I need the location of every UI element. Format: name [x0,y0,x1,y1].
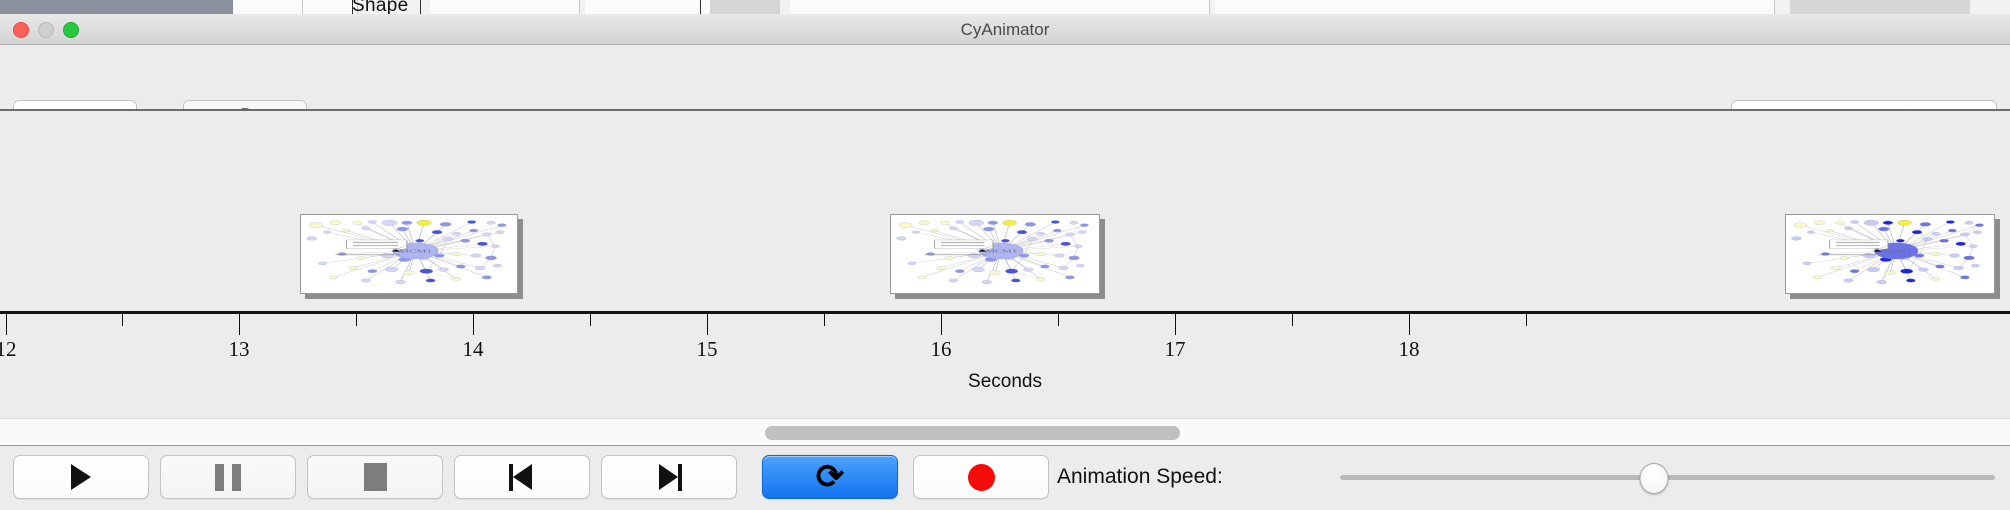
axis-tick [590,314,591,326]
network-node [385,267,398,272]
stop-button[interactable] [307,455,443,499]
network-node [1975,224,1983,227]
network-node [361,227,370,230]
network-node [1036,252,1045,255]
network-node [1070,221,1078,224]
axis-tick-label: 16 [931,337,952,362]
loop-button[interactable]: ⟳ [762,455,898,499]
network-node [493,264,502,267]
network-node [460,239,470,242]
background-window-cell [1215,0,1775,14]
network-node [1814,221,1825,225]
network-node [1883,221,1893,225]
network-node [1080,224,1088,227]
network-node [438,268,448,272]
network-node [1037,232,1045,235]
skip-forward-icon [656,464,682,491]
network-node [1896,239,1904,242]
axis-tick [1409,314,1410,335]
network-node [382,220,398,226]
network-node [1897,220,1911,225]
network-node [482,276,492,279]
network-node [1935,265,1944,268]
keyframe-image: MCM1 [300,214,518,294]
pause-button[interactable] [160,455,296,499]
network-node [1948,229,1956,232]
skip-forward-button[interactable] [601,455,737,499]
network-node [1900,269,1912,274]
network-node [452,232,461,235]
axis-tick [473,314,474,335]
axis-tick [6,314,7,335]
axis-tick [824,314,825,326]
keyframe-thumbnail[interactable]: MCM1 [890,214,1100,294]
network-hub-label: MCM1 [399,249,432,254]
axis-line [0,311,2010,314]
keyframe-image: MCM1 [1785,214,1995,294]
network-thumbnail: MCM1 [891,215,1099,293]
network-node [1844,227,1852,230]
network-node [1002,220,1016,225]
network-thumbnail: MCM1 [301,215,517,293]
title-bar: CyAnimator [0,14,2010,45]
timeline-axis: 12131415161718 Seconds [0,311,2010,420]
loop-icon: ⟳ [816,460,845,494]
network-node [1920,222,1931,226]
network-node [456,265,466,268]
network-node [477,242,487,246]
network-node [983,227,994,231]
network-node [1971,264,1979,267]
network-node [330,221,341,225]
network-node [968,253,980,258]
axis-tick [1058,314,1059,326]
network-node [1922,237,1932,241]
network-node [1932,277,1940,280]
record-button[interactable] [913,455,1049,499]
network-node [491,245,500,248]
network-node [318,262,327,265]
animation-speed-slider[interactable] [1340,455,1995,499]
network-node [1973,231,1981,234]
network-node [1912,230,1922,234]
network-node [1949,254,1959,258]
network-node [1807,231,1814,234]
network-node [1931,252,1940,255]
network-node [395,280,405,284]
timeline-panel: MCM1MCM1MCM1 12131415161718 Seconds [0,109,2010,418]
network-node [397,227,408,231]
axis-tick-label: 15 [697,337,718,362]
network-node [452,252,462,255]
background-window-cell [585,0,725,14]
network-node [955,220,963,223]
axis-tick [356,314,357,326]
network-node [1065,276,1074,279]
toolbar: + Clear All Frames [0,45,2010,109]
axis-tick [1292,314,1293,326]
network-node [1867,267,1879,272]
network-node [342,229,350,232]
window-title: CyAnimator [0,14,2010,45]
network-node [955,269,964,272]
axis-tick [122,314,123,326]
network-node [899,223,912,228]
network-node [361,279,371,282]
network-node [415,239,424,242]
keyframe-thumbnail[interactable]: MCM1 [1785,214,1995,294]
play-icon [71,464,91,490]
network-thumbnail: MCM1 [1786,215,1994,293]
network-node [1877,280,1887,284]
network-node [1960,233,1969,236]
network-node [1878,227,1889,231]
network-node [307,237,317,241]
axis-tick-label: 17 [1165,337,1186,362]
network-node [1954,266,1964,270]
skip-back-button[interactable] [454,455,590,499]
network-node [329,276,338,279]
animation-speed-label: Animation Speed: [1057,455,1223,499]
background-window: Shape [0,0,2010,14]
slider-thumb[interactable] [1640,463,1669,494]
network-node [357,256,366,259]
network-node [969,220,984,226]
network-node [348,266,358,269]
network-node [487,221,496,224]
network-node [1065,233,1074,236]
axis-tick [707,314,708,335]
network-node [1932,232,1940,235]
play-button[interactable] [13,455,149,499]
network-node [1960,276,1969,279]
axis-tick-label: 12 [0,337,17,362]
network-node [1017,230,1027,234]
network-node [352,221,362,224]
network-node [1074,245,1082,248]
axis-tick-label: 13 [229,337,250,362]
network-node [908,262,916,265]
network-node [498,224,507,227]
skip-back-icon [509,464,535,491]
network-node [1001,239,1009,242]
axis-tick-label: 14 [463,337,484,362]
network-node [440,222,451,226]
record-icon [968,464,995,491]
network-node [323,231,331,234]
network-node [1956,242,1966,246]
network-node [919,221,930,225]
axis-tick-label: 18 [1399,337,1420,362]
network-hub-label: MCM1 [985,249,1017,253]
background-window-dark-region [0,0,233,14]
network-node [420,269,433,274]
network-node [1813,276,1821,279]
timeline-scrollbar[interactable] [0,418,2010,446]
network-node [1885,271,1896,275]
network-node [1791,237,1801,241]
network-node [368,269,378,272]
network-node [417,220,432,225]
network-node [1059,266,1069,270]
axis-tick [1175,314,1176,335]
network-node [949,279,958,282]
network-node [972,267,984,272]
network-node [1965,221,1973,224]
background-window-tick [700,0,701,14]
network-node [941,221,950,224]
network-node [1054,254,1064,258]
network-node [936,266,945,269]
network-node [1053,229,1061,232]
network-node [1061,242,1071,246]
network-node [426,279,436,282]
network-node [1863,253,1875,258]
background-window-cell [430,0,580,14]
axis-tick [1526,314,1527,326]
network-node [1964,256,1975,260]
keyframes-area[interactable]: MCM1MCM1MCM1 [0,111,2010,311]
background-window-cell [790,0,1210,14]
network-node [1826,229,1833,232]
network-node [1803,262,1811,265]
network-node [1840,256,1848,259]
background-window-cell [233,0,303,14]
network-node [990,271,1001,275]
background-window-tick [420,0,421,14]
network-node [982,280,992,284]
network-node [467,220,476,223]
network-node [1045,239,1054,242]
pause-icon [215,464,241,491]
network-node [1023,268,1033,272]
keyframe-image: MCM1 [890,214,1100,294]
network-node [1051,220,1059,223]
network-node [1076,264,1084,267]
network-node [471,254,481,258]
background-window-grey [710,0,780,14]
axis-tick [941,314,942,335]
network-node [443,237,453,241]
network-node [402,221,412,225]
cyanimator-window: Shape CyAnimator + Clear All Frames MCM [0,0,2010,510]
network-node [1794,223,1807,228]
background-window-grey [1790,0,1970,14]
background-window-cell [303,0,358,14]
network-node [1078,231,1086,234]
network-node [896,237,906,241]
network-node [1850,220,1858,223]
network-node [1836,221,1845,224]
network-node [452,277,461,280]
network-node [1864,220,1879,226]
network-node [912,231,919,234]
network-node [469,229,478,232]
network-node [1946,220,1954,223]
network-node [485,256,496,260]
network-node [495,231,504,234]
axis-tick [239,314,240,335]
network-node [1918,268,1928,272]
network-node [1005,269,1017,274]
network-node [1831,266,1840,269]
background-window-label: Shape [352,0,408,14]
network-node [1040,265,1049,268]
network-node [1069,256,1080,260]
stop-icon [364,463,387,491]
network-node [949,227,957,230]
network-node [1844,279,1853,282]
network-node [1850,269,1859,272]
network-node [368,220,377,223]
network-hub-label: MCM1 [1880,249,1912,253]
playback-bar: ⟳ Animation Speed: [0,446,2010,510]
network-node [482,233,492,236]
network-node [432,230,442,234]
network-node [931,229,938,232]
keyframe-thumbnail[interactable]: MCM1 [300,214,518,294]
network-node [1025,222,1036,226]
network-node [381,253,394,258]
axis-title: Seconds [0,371,2010,393]
network-node [918,276,926,279]
network-callout-box [1830,240,1888,249]
network-node [1969,245,1977,248]
network-node [1011,279,1020,282]
timeline-scrollbar-thumb[interactable] [765,426,1180,440]
network-node [309,223,323,228]
network-node [945,256,953,259]
network-node [1037,277,1045,280]
network-callout-box [935,240,993,249]
network-callout-box [346,240,406,249]
network-node [988,221,998,225]
network-node [1027,237,1037,241]
network-node [475,266,485,270]
network-node [403,271,414,275]
network-node [1940,239,1949,242]
network-node [1906,279,1915,282]
